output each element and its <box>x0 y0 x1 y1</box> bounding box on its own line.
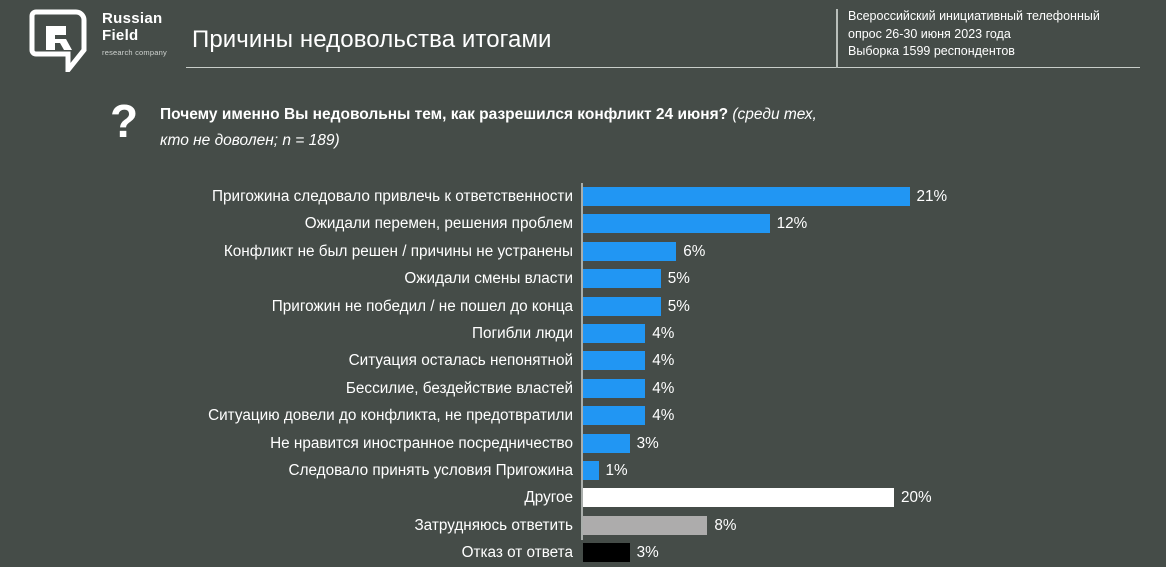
chart-row-label: Не нравится иностранное посредничество <box>53 430 573 457</box>
chart-row: Бессилие, бездействие властей4% <box>0 375 1166 402</box>
chart-row: Пригожина следовало привлечь к ответстве… <box>0 183 1166 210</box>
question-mark-icon: ? <box>110 98 138 144</box>
survey-meta-line-3: Выборка 1599 респондентов <box>848 43 1100 61</box>
chart-row: Ожидали перемен, решения проблем12% <box>0 210 1166 237</box>
brand-name-line2: Field <box>102 27 182 44</box>
chart-bar <box>583 297 661 316</box>
chart-row: Отказ от ответа3% <box>0 539 1166 566</box>
chart-row: Пригожин не победил / не пошел до конца5… <box>0 293 1166 320</box>
speech-bubble-rf-logo-icon <box>28 8 90 72</box>
question-block: ? Почему именно Вы недовольны тем, как р… <box>0 96 1166 162</box>
chart-row-label: Ситуация осталась непонятной <box>53 347 573 374</box>
chart-bar-value: 6% <box>683 238 705 265</box>
survey-meta-line-2: опрос 26-30 июня 2023 года <box>848 26 1100 44</box>
chart-row-label: Пригожина следовало привлечь к ответстве… <box>53 183 573 210</box>
brand-wordmark: Russian Field research company <box>102 10 182 58</box>
chart-bar-value: 4% <box>652 402 674 429</box>
chart-bar-value: 4% <box>652 347 674 374</box>
chart-bar-value: 1% <box>606 457 628 484</box>
brand-name-line1: Russian <box>102 10 182 27</box>
chart-bar-value: 3% <box>637 430 659 457</box>
chart-row-label: Затрудняюсь ответить <box>53 512 573 539</box>
bar-chart: Пригожина следовало привлечь к ответстве… <box>0 183 1166 543</box>
survey-meta: Всероссийский инициативный телефонный оп… <box>848 8 1100 61</box>
chart-row: Другое20% <box>0 484 1166 511</box>
chart-row: Ситуацию довели до конфликта, не предотв… <box>0 402 1166 429</box>
chart-bar <box>583 214 770 233</box>
chart-row-label: Погибли люди <box>53 320 573 347</box>
header-divider <box>186 67 1140 68</box>
brand-tagline: research company <box>102 48 182 58</box>
chart-row: Погибли люди4% <box>0 320 1166 347</box>
chart-bar <box>583 461 599 480</box>
chart-row-label: Другое <box>53 484 573 511</box>
header-vertical-divider <box>836 9 838 68</box>
chart-bar <box>583 242 676 261</box>
question-main: Почему именно Вы недовольны тем, как раз… <box>160 106 728 123</box>
chart-row: Ситуация осталась непонятной4% <box>0 347 1166 374</box>
chart-row-label: Следовало принять условия Пригожина <box>53 457 573 484</box>
page-header: Russian Field research company Причины н… <box>0 0 1166 78</box>
question-text: Почему именно Вы недовольны тем, как раз… <box>160 102 820 154</box>
chart-bar <box>583 488 894 507</box>
survey-meta-line-1: Всероссийский инициативный телефонный <box>848 8 1100 26</box>
chart-row-label: Ситуацию довели до конфликта, не предотв… <box>53 402 573 429</box>
chart-bar <box>583 351 645 370</box>
brand-logo: Russian Field research company <box>28 6 180 72</box>
chart-bar-value: 20% <box>901 484 932 511</box>
chart-row-label: Ожидали смены власти <box>53 265 573 292</box>
chart-bar <box>583 406 645 425</box>
page-title: Причины недовольства итогами <box>192 26 552 54</box>
chart-bar-value: 21% <box>917 183 948 210</box>
chart-bar <box>583 543 630 562</box>
chart-bar-value: 5% <box>668 293 690 320</box>
chart-row: Следовало принять условия Пригожина1% <box>0 457 1166 484</box>
chart-row: Ожидали смены власти5% <box>0 265 1166 292</box>
chart-bar <box>583 269 661 288</box>
chart-bar-value: 3% <box>637 539 659 566</box>
chart-row-label: Отказ от ответа <box>53 539 573 566</box>
chart-row: Конфликт не был решен / причины не устра… <box>0 238 1166 265</box>
chart-row-label: Бессилие, бездействие властей <box>53 375 573 402</box>
chart-row-label: Пригожин не победил / не пошел до конца <box>53 293 573 320</box>
chart-row: Не нравится иностранное посредничество3% <box>0 430 1166 457</box>
chart-bar <box>583 516 707 535</box>
chart-row-label: Ожидали перемен, решения проблем <box>53 210 573 237</box>
chart-bar <box>583 187 910 206</box>
chart-row-label: Конфликт не был решен / причины не устра… <box>53 238 573 265</box>
chart-bar <box>583 379 645 398</box>
chart-bar-value: 4% <box>652 375 674 402</box>
chart-bar-value: 4% <box>652 320 674 347</box>
chart-bar-value: 12% <box>777 210 808 237</box>
chart-bar-value: 5% <box>668 265 690 292</box>
chart-row: Затрудняюсь ответить8% <box>0 512 1166 539</box>
chart-bar-value: 8% <box>714 512 736 539</box>
chart-bar <box>583 324 645 343</box>
chart-bar <box>583 434 630 453</box>
